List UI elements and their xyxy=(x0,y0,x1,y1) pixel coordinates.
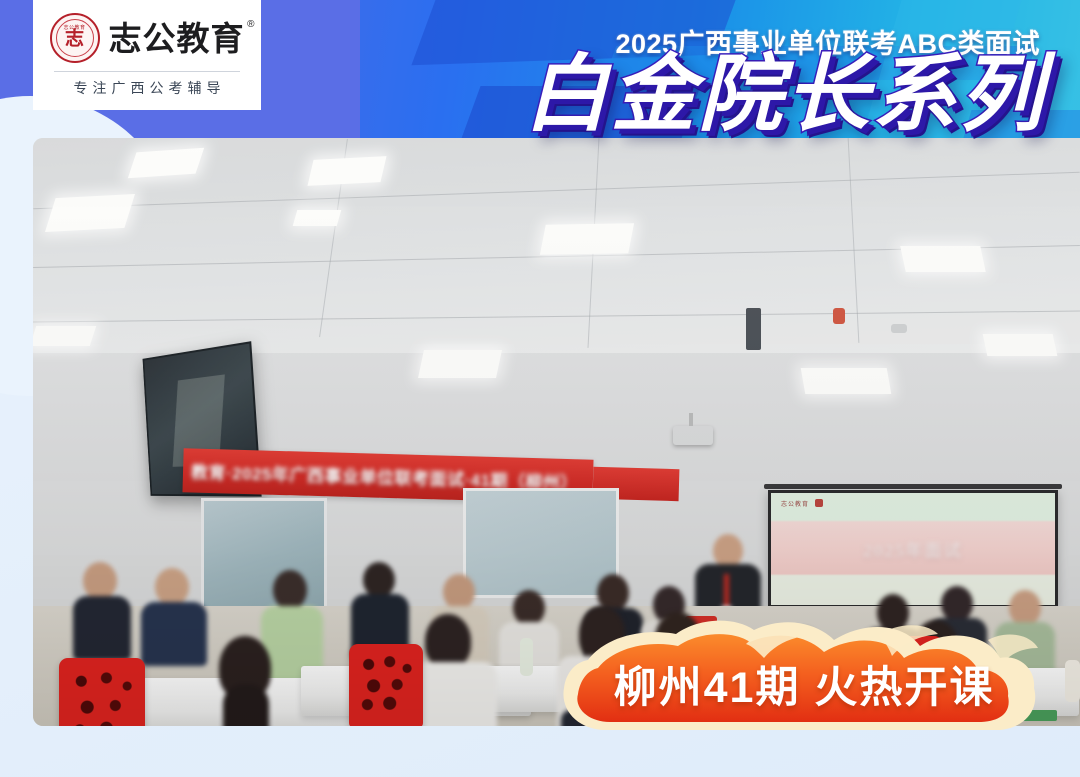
seal-icon: 志公教育 志 xyxy=(50,13,100,63)
student-head xyxy=(273,570,307,610)
course-open-badge: 柳州41期 火热开课 xyxy=(548,614,1068,754)
ceiling-speaker-icon xyxy=(746,308,761,350)
slide-logo-text: 志公教育 xyxy=(781,502,809,508)
student-front xyxy=(193,636,305,726)
ceiling-light xyxy=(45,194,135,232)
student-hair xyxy=(223,684,269,726)
ceiling-sensor-icon xyxy=(891,324,907,333)
seal-char: 志 xyxy=(65,29,84,48)
student-head xyxy=(155,568,189,606)
ceiling-sensor-icon xyxy=(833,308,845,324)
header-headline: 白金院长系列 xyxy=(524,52,1046,136)
ceiling-light xyxy=(801,368,892,394)
badge-label: 柳州41期 火热开课 xyxy=(548,653,1042,715)
ceiling-light xyxy=(307,156,386,186)
registered-icon: ® xyxy=(247,20,255,30)
chair xyxy=(349,644,423,726)
ceiling-light xyxy=(983,334,1058,356)
student xyxy=(73,562,133,658)
student-head xyxy=(513,590,545,626)
ceiling-light xyxy=(293,210,342,226)
instructor-lanyard xyxy=(724,574,729,608)
student-head xyxy=(83,562,117,600)
student-body xyxy=(73,596,131,660)
ceiling-light xyxy=(418,350,502,378)
logo-divider xyxy=(54,71,240,72)
projector-screen-rod xyxy=(764,484,1062,489)
ceiling-light xyxy=(900,246,986,272)
brand-tagline: 专注广西公考辅导 xyxy=(69,78,226,98)
slide-title: 2025年面试 xyxy=(771,537,1055,562)
student-head xyxy=(363,562,395,598)
poster-root: 志公教育 志 志公教育® 专注广西公考辅导 2025广西事业单位联考ABC类面试… xyxy=(0,0,1080,777)
slide-logo-mark xyxy=(815,499,823,507)
brand-logo-plate: 志公教育 志 志公教育® 专注广西公考辅导 xyxy=(33,0,261,110)
ceiling-projector-icon xyxy=(673,426,713,445)
instructor-head xyxy=(713,534,743,568)
water-bottle xyxy=(520,638,533,676)
student-head xyxy=(425,614,471,668)
ceiling-light xyxy=(33,326,96,346)
brand-logo-row: 志公教育 志 志公教育® xyxy=(50,12,245,64)
ceiling-light xyxy=(540,223,634,255)
chair xyxy=(59,658,145,726)
slide-logo: 志公教育 xyxy=(781,499,823,508)
ceiling-light xyxy=(128,148,204,179)
student-head xyxy=(443,574,475,610)
brand-name: 志公教育® xyxy=(109,22,245,55)
brand-name-text: 志公教育 xyxy=(109,20,245,57)
